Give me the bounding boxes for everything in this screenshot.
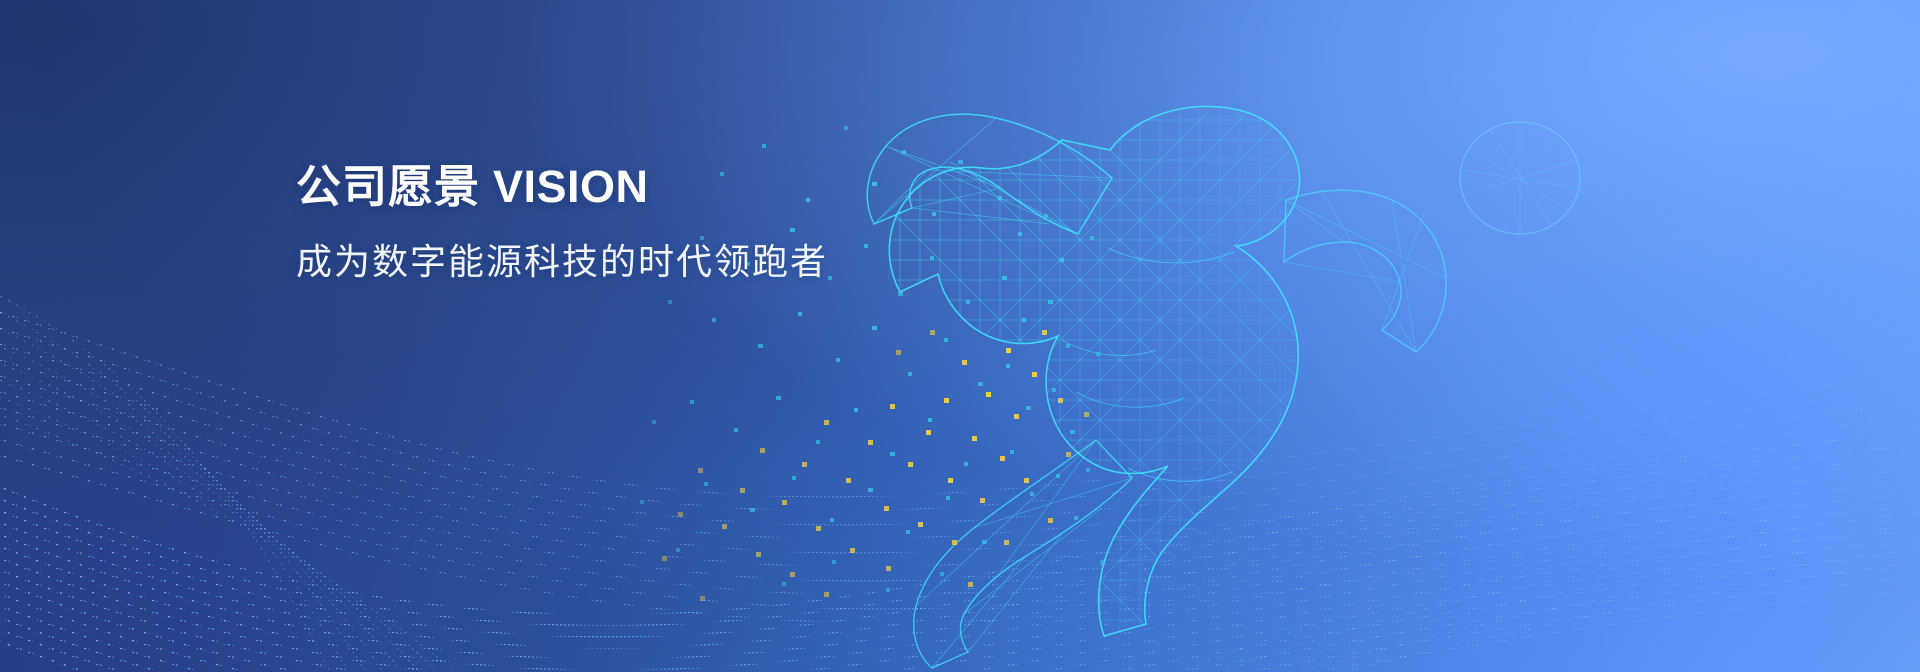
runner-rear-leg: [914, 440, 1132, 668]
page-title: 公司愿景 VISION: [296, 160, 1056, 213]
background-art: [0, 0, 1920, 672]
wireframe-runner: [0, 0, 1920, 672]
title-en: VISION: [480, 161, 649, 212]
runner-mesh-accents: [1062, 248, 1234, 481]
vision-banner: 公司愿景 VISION 成为数字能源科技的时代领跑者: [0, 0, 1920, 672]
title-cn: 公司愿景: [296, 161, 480, 212]
flowing-wave-lines: [0, 0, 1920, 672]
page-subtitle: 成为数字能源科技的时代领跑者: [296, 239, 1056, 286]
banner-copy: 公司愿景 VISION 成为数字能源科技的时代领跑者: [296, 160, 1056, 286]
runner-head: [1460, 122, 1580, 234]
runner-front-arm: [1284, 188, 1446, 352]
